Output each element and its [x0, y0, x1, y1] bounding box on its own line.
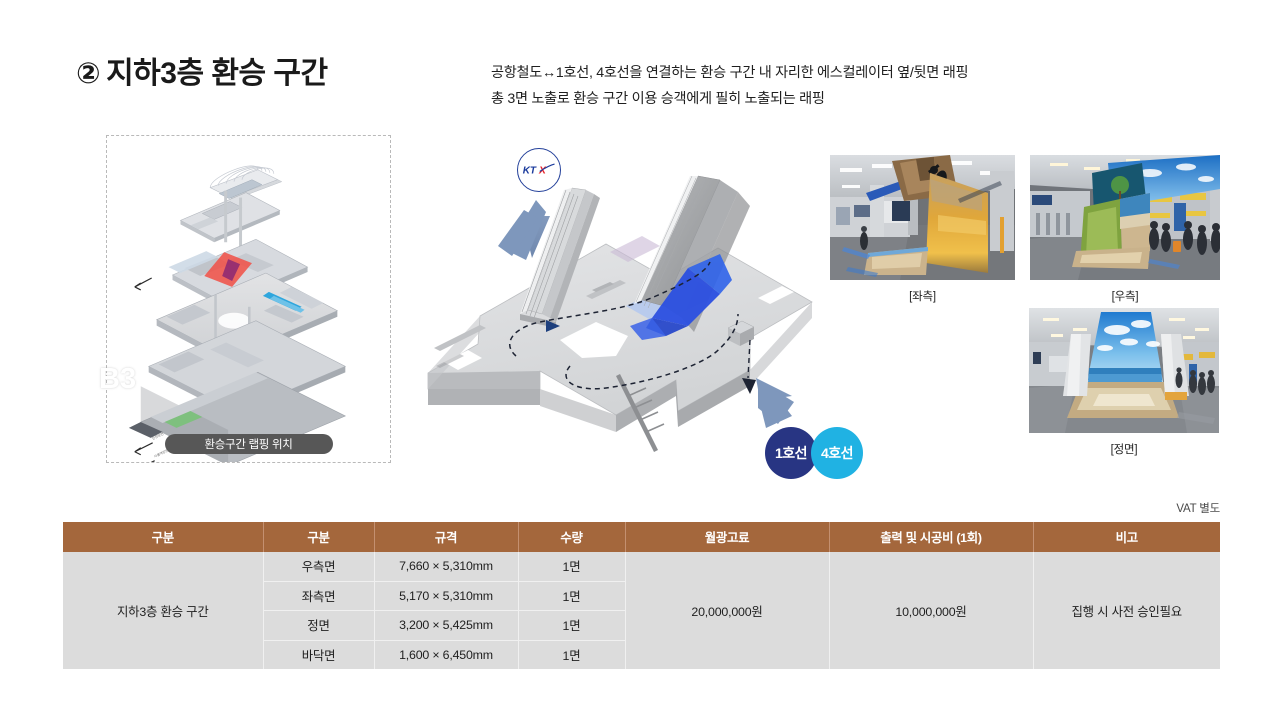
station-location-panel: 인천방면 서울역방면 환승구간 랩핑 위치	[106, 135, 391, 463]
cell-qty: 1면	[518, 581, 625, 611]
floor-level-label: B3	[99, 363, 136, 396]
cell-side: 좌측면	[263, 581, 374, 611]
cell-remark: 집행 시 사전 승인필요	[1033, 552, 1220, 669]
wrap-location-pill: 환승구간 랩핑 위치	[165, 434, 333, 454]
line-badge-4: 4호선	[811, 427, 863, 479]
ktx-direction-arrow	[498, 200, 550, 260]
table-row: 지하3층 환승 구간 우측면 7,660 × 5,310mm 1면 20,000…	[63, 552, 1220, 581]
photo-front-image	[1029, 308, 1219, 433]
title-marker: ②	[76, 58, 100, 90]
photo-block-left: [좌측]	[830, 155, 1015, 304]
table-header-group: 구분	[63, 522, 263, 552]
cell-size: 5,170 × 5,310mm	[374, 581, 518, 611]
table-header-qty: 수량	[518, 522, 625, 552]
table-header-size: 규격	[374, 522, 518, 552]
cell-install-fee: 10,000,000원	[829, 552, 1033, 669]
table-header-install: 출력 및 시공비 (1회)	[829, 522, 1033, 552]
description-line-2: 총 3면 노출로 환승 구간 이용 승객에게 필히 노출되는 래핑	[491, 86, 1111, 112]
cell-qty: 1면	[518, 640, 625, 669]
photo-right-image	[1030, 155, 1220, 280]
photo-block-front: [정면]	[1029, 308, 1219, 457]
photo-block-right: [우측]	[1030, 155, 1220, 304]
photo-front-caption: [정면]	[1029, 441, 1219, 457]
description-block: 공항철도↔1호선, 4호선을 연결하는 환승 구간 내 자리한 에스컬레이터 옆…	[491, 60, 1111, 112]
photo-right-caption: [우측]	[1030, 288, 1220, 304]
line-badge-1-label: 1호선	[775, 443, 807, 463]
rate-table: 구분 구분 규격 수량 월광고료 출력 및 시공비 (1회) 비고 지하3층 환…	[63, 522, 1220, 669]
line-badge-4-label: 4호선	[821, 443, 853, 463]
cell-size: 1,600 × 6,450mm	[374, 640, 518, 669]
subway-line-badges: 1호선 4호선	[765, 427, 863, 479]
exit-direction-arrow	[756, 378, 794, 428]
cell-group-label: 지하3층 환승 구간	[63, 552, 263, 669]
svg-text:KT: KT	[523, 166, 537, 177]
cell-size: 7,660 × 5,310mm	[374, 552, 518, 581]
cell-size: 3,200 × 5,425mm	[374, 611, 518, 641]
station-wrap-left-photo-icon	[830, 155, 1015, 280]
slide-canvas: ②지하3층 환승 구간 공항철도↔1호선, 4호선을 연결하는 환승 구간 내 …	[0, 0, 1273, 711]
wrap-location-label: 환승구간 랩핑 위치	[204, 436, 292, 452]
table-header-monthly: 월광고료	[625, 522, 829, 552]
page-title: ②지하3층 환승 구간	[76, 48, 328, 92]
photo-left-image	[830, 155, 1015, 280]
line-badge-1: 1호선	[765, 427, 817, 479]
cell-monthly-fee: 20,000,000원	[625, 552, 829, 669]
table-header-row: 구분 구분 규격 수량 월광고료 출력 및 시공비 (1회) 비고	[63, 522, 1220, 552]
cell-side: 우측면	[263, 552, 374, 581]
cell-qty: 1면	[518, 611, 625, 641]
photo-left-caption: [좌측]	[830, 288, 1015, 304]
ktx-logo-icon: KT X	[517, 148, 561, 192]
title-text: 지하3층 환승 구간	[106, 57, 328, 90]
cell-side: 바닥면	[263, 640, 374, 669]
station-wrap-right-photo-icon	[1030, 155, 1220, 280]
table-header-remark: 비고	[1033, 522, 1220, 552]
isometric-station-map-icon: 인천방면 서울역방면	[107, 136, 390, 462]
station-wrap-front-photo-icon	[1029, 308, 1219, 433]
description-line-1: 공항철도↔1호선, 4호선을 연결하는 환승 구간 내 자리한 에스컬레이터 옆…	[491, 60, 1111, 86]
cell-side: 정면	[263, 611, 374, 641]
cell-qty: 1면	[518, 552, 625, 581]
table-header-side: 구분	[263, 522, 374, 552]
vat-note: VAT 별도	[1176, 500, 1220, 516]
